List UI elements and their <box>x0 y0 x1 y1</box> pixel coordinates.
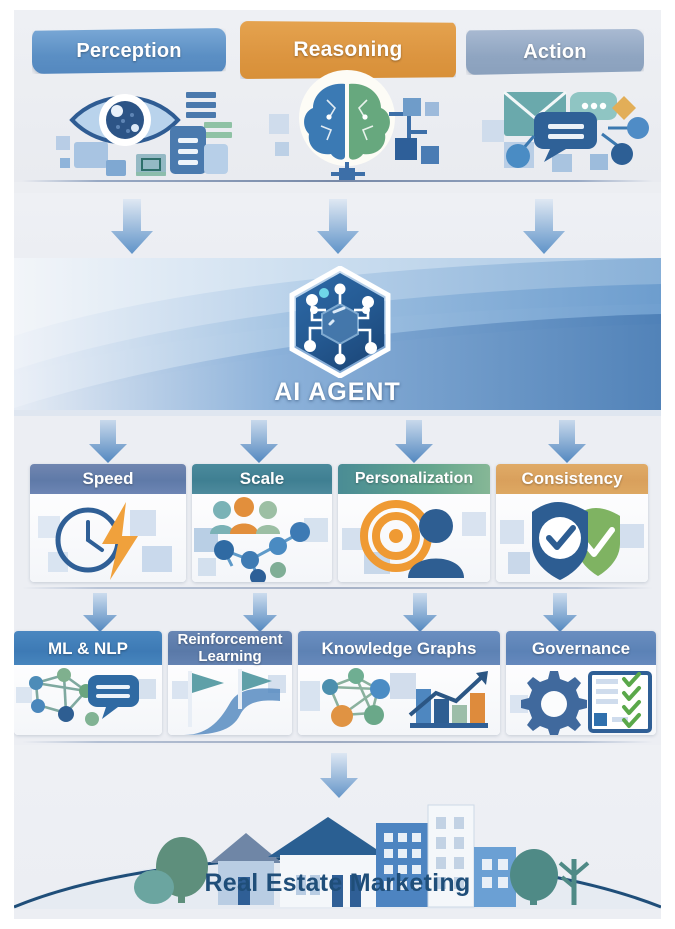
section-divider-1 <box>22 180 653 182</box>
banner-perception-label: Perception <box>76 40 181 63</box>
section-divider-4 <box>22 741 653 743</box>
benefit-personalization-label: Personalization <box>338 464 490 494</box>
ai-agent-section: AI AGENT <box>14 193 661 418</box>
tech-ml-nlp-label: ML & NLP <box>14 631 162 665</box>
section-divider-3 <box>22 587 653 589</box>
benefit-card-speed[interactable]: Speed <box>30 464 186 582</box>
benefit-card-personalization[interactable]: Personalization <box>338 464 490 582</box>
graph-chart-icon <box>298 665 500 735</box>
arrow-down-personalization <box>394 420 434 464</box>
arrow-down-perception <box>110 199 154 255</box>
tech-card-governance[interactable]: Governance <box>506 631 656 735</box>
benefit-scale-label: Scale <box>192 464 332 494</box>
tech-card-reinforcement-learning[interactable]: Reinforcement Learning <box>168 631 292 735</box>
hexagon-network-icon <box>286 266 394 378</box>
tech-card-ml-nlp[interactable]: ML & NLP <box>14 631 162 735</box>
diagram-canvas: Perception Reasoning Action <box>14 10 661 919</box>
arrow-down-reasoning <box>316 199 360 255</box>
arrow-down-governance <box>542 593 578 633</box>
eye-icon <box>54 84 234 176</box>
banner-reasoning-label: Reasoning <box>293 38 402 62</box>
ai-agent-label: AI AGENT <box>14 378 661 407</box>
capabilities-section: Perception Reasoning Action <box>14 10 661 182</box>
arrow-down-knowledge-graphs <box>402 593 438 633</box>
outcome-label: Real Estate Marketing <box>14 869 661 898</box>
brain-icon <box>269 70 449 180</box>
tech-reinforcement-learning-label: Reinforcement Learning <box>168 631 292 665</box>
tech-knowledge-graphs-label: Knowledge Graphs <box>298 631 500 665</box>
network-chat-icon <box>14 665 162 735</box>
arrow-down-reinforcement-learning <box>242 593 278 633</box>
arrow-down-ml-nlp <box>82 593 118 633</box>
arrow-down-action <box>522 199 566 255</box>
people-network-icon <box>192 494 332 582</box>
banner-perception[interactable]: Perception <box>32 28 226 74</box>
flag-path-icon <box>168 665 292 735</box>
gear-checklist-icon <box>506 665 656 735</box>
arrow-down-scale <box>239 420 279 464</box>
arrow-down-consistency <box>547 420 587 464</box>
clock-bolt-icon <box>30 494 186 582</box>
tech-card-knowledge-graphs[interactable]: Knowledge Graphs <box>298 631 500 735</box>
shield-check-icon <box>496 494 648 582</box>
benefit-card-consistency[interactable]: Consistency <box>496 464 648 582</box>
outcome-section: Real Estate Marketing <box>14 745 661 919</box>
technologies-section: ML & NLP <box>14 593 661 745</box>
benefit-consistency-label: Consistency <box>496 464 648 494</box>
banner-action[interactable]: Action <box>466 29 644 75</box>
banner-action-label: Action <box>523 41 586 64</box>
message-envelope-icon <box>482 84 658 176</box>
arrow-down-speed <box>88 420 128 464</box>
tech-governance-label: Governance <box>506 631 656 665</box>
ai-agent-core[interactable]: AI AGENT <box>14 258 661 416</box>
benefit-card-scale[interactable]: Scale <box>192 464 332 582</box>
target-person-icon <box>338 494 490 582</box>
benefits-section: Speed Scale <box>14 418 661 593</box>
benefit-speed-label: Speed <box>30 464 186 494</box>
